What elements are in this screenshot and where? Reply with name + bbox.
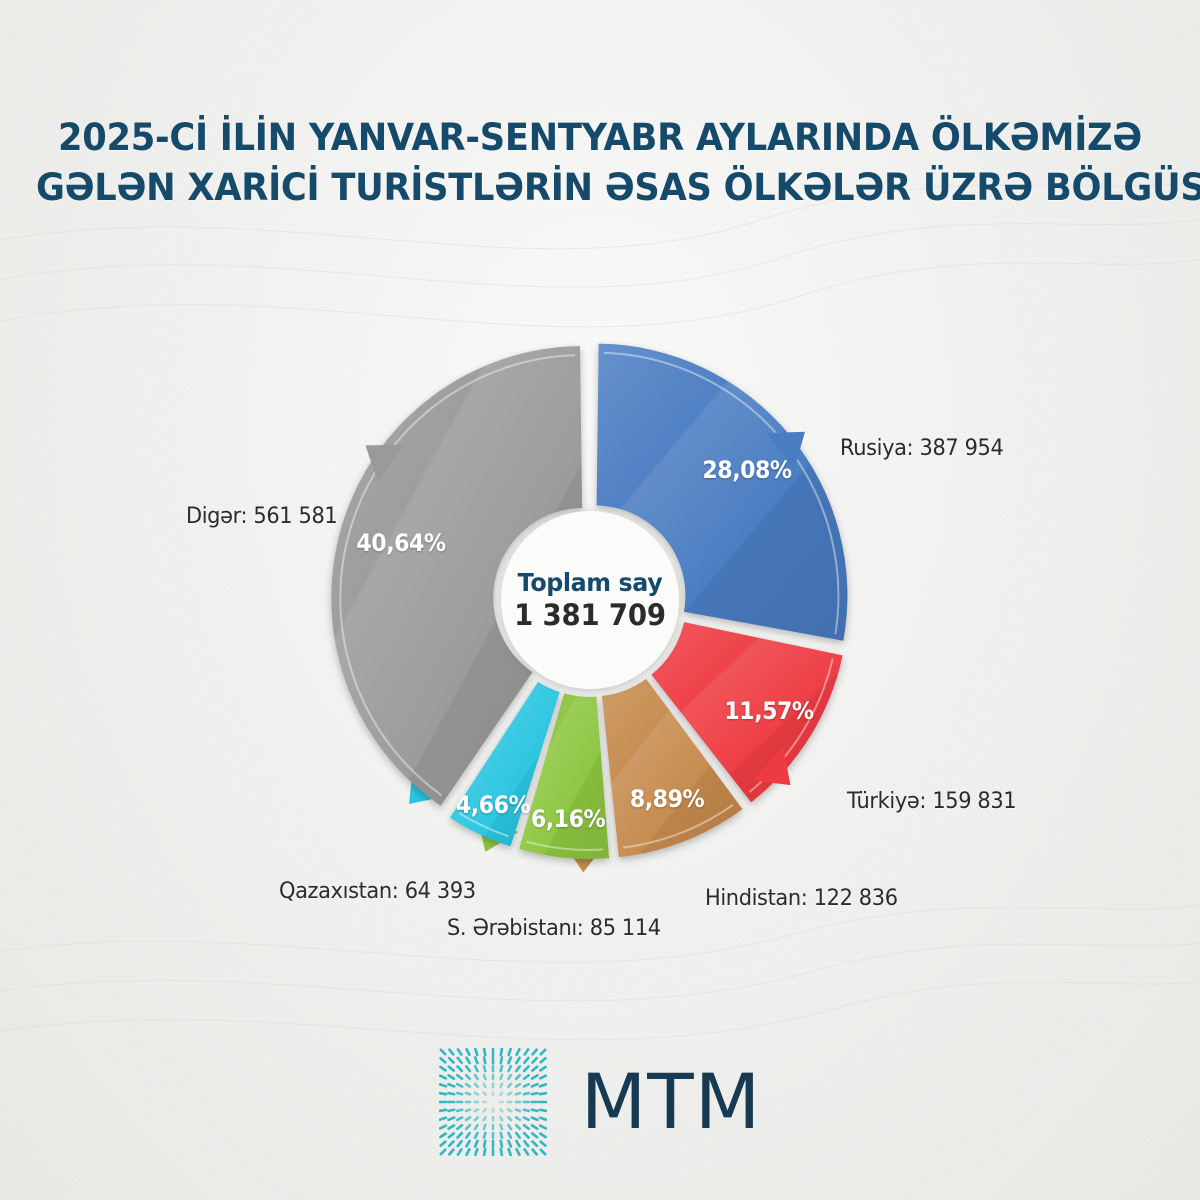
slice-callout-label: Qazaxıstan: 64 393 xyxy=(279,878,476,904)
page-title-line-1: 2025-Cİ İLİN YANVAR-SENTYABR AYLARINDA Ö… xyxy=(36,112,1164,162)
slice-callout-label: S. Ərəbistanı: 85 114 xyxy=(447,915,661,941)
slice-callout-label: Hindistan: 122 836 xyxy=(705,885,898,911)
total-value: 1 381 709 xyxy=(514,598,666,632)
slice-percent-label: 6,16% xyxy=(530,805,604,833)
total-label: Toplam say xyxy=(514,568,666,598)
slice-percent-label: 4,66% xyxy=(456,791,530,819)
page-title: 2025-Cİ İLİN YANVAR-SENTYABR AYLARINDA Ö… xyxy=(36,112,1164,212)
slice-percent-label: 28,08% xyxy=(703,456,792,484)
mtm-logo: MTM xyxy=(0,1048,1200,1156)
slice-callout-label: Türkiyə: 159 831 xyxy=(847,788,1016,814)
slice-percent-label: 11,57% xyxy=(724,697,813,725)
mtm-burst-icon xyxy=(439,1048,547,1156)
slice-percent-label: 8,89% xyxy=(630,785,704,813)
slice-percent-label: 40,64% xyxy=(356,529,445,557)
donut-chart: Toplam say 1 381 709 28,08%11,57%8,89%6,… xyxy=(0,250,1200,970)
slice-callout-label: Rusiya: 387 954 xyxy=(840,435,1003,461)
donut-center-text: Toplam say 1 381 709 xyxy=(510,568,670,632)
page-title-line-2: GƏLƏN XARİCİ TURİSTLƏRİN ƏSAS ÖLKƏLƏR ÜZ… xyxy=(36,162,1164,212)
slice-callout-label: Digər: 561 581 xyxy=(186,503,337,529)
mtm-wordmark: MTM xyxy=(581,1064,762,1140)
